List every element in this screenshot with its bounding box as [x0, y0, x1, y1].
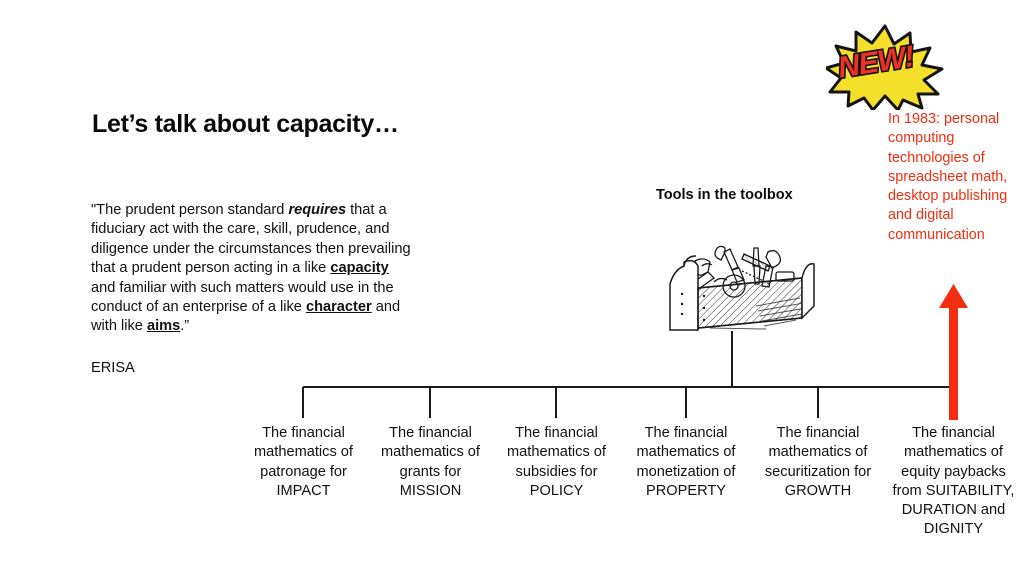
leaf-grants-mission: The financial mathematics of grants for …	[373, 424, 488, 501]
slide-canvas: Let’s talk about capacity… "The prudent …	[0, 0, 1024, 576]
leaf-monetization-property: The financial mathematics of monetizatio…	[623, 424, 749, 501]
quote-emphasis-aims: aims	[147, 318, 180, 334]
quote-attribution: ERISA	[91, 359, 135, 378]
toolbox-icon	[648, 228, 818, 334]
quote-emphasis-character: character	[306, 299, 372, 315]
quote-emphasis-requires: requires	[288, 202, 346, 218]
erisa-quote: "The prudent person standard requires th…	[91, 201, 416, 337]
quote-segment-5: .”	[180, 318, 189, 334]
leaf-securitization-growth: The financial mathematics of securitizat…	[757, 424, 879, 501]
leaf-equity-paybacks: The financial mathematics of equity payb…	[891, 424, 1016, 540]
quote-segment-1: "The prudent person standard	[91, 202, 288, 218]
quote-emphasis-capacity: capacity	[330, 260, 388, 276]
leaf-patronage-impact: The financial mathematics of patronage f…	[246, 424, 361, 501]
toolbox-heading: Tools in the toolbox	[656, 187, 793, 203]
new-badge-icon: NEW!	[826, 24, 944, 110]
red-up-arrow-icon	[939, 284, 968, 420]
page-title: Let’s talk about capacity…	[92, 110, 399, 139]
red-annotation-note: In 1983: personal computing technologies…	[888, 110, 1014, 245]
leaf-subsidies-policy: The financial mathematics of subsidies f…	[499, 424, 614, 501]
